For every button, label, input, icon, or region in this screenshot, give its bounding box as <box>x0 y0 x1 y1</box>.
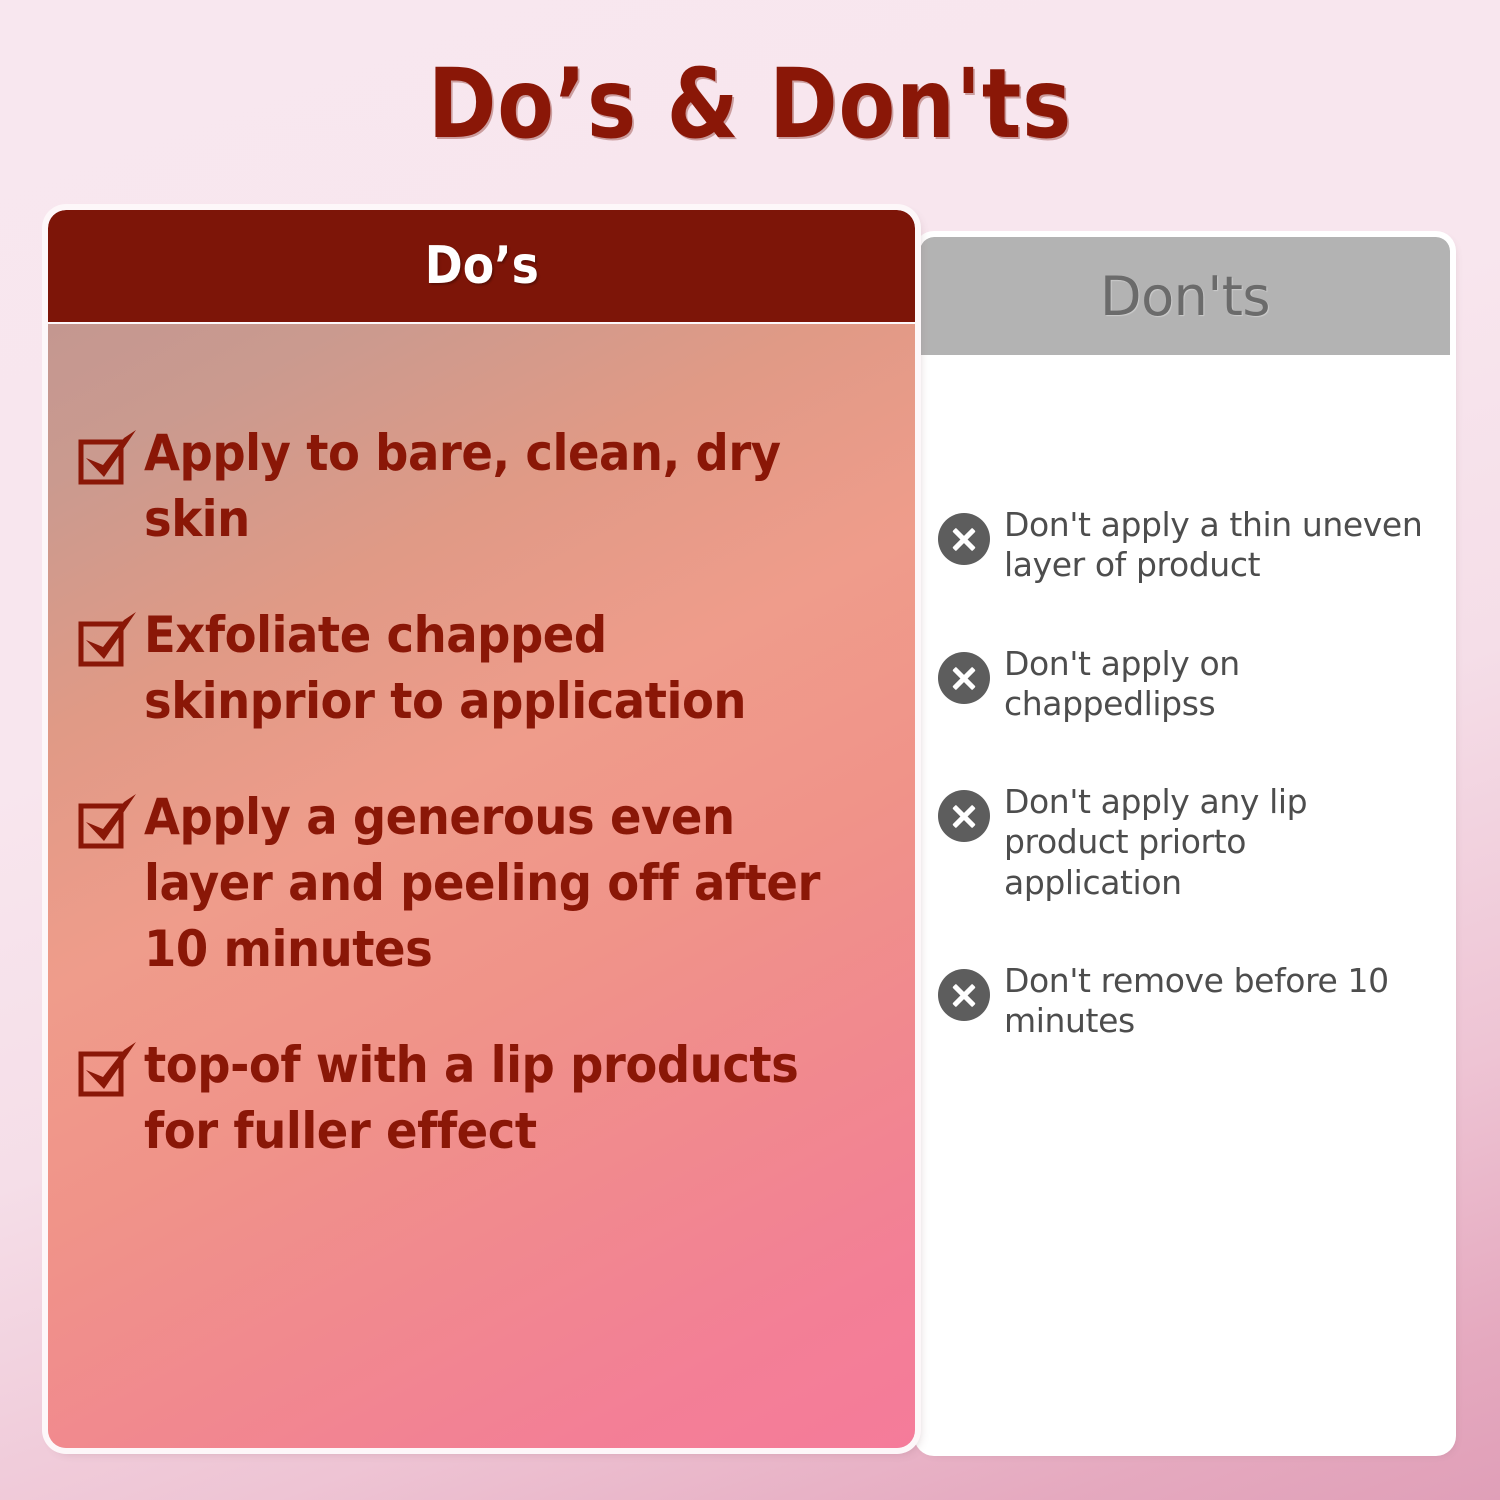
list-item: Don't apply a thin uneven layer of produ… <box>938 505 1424 586</box>
dos-list: Apply to bare, clean, dry skin Exfoliate… <box>48 322 915 1448</box>
list-item: Don't apply on chappedlipss <box>938 644 1424 725</box>
x-circle-icon <box>938 513 990 565</box>
checkbox-checked-icon <box>78 792 140 850</box>
donts-header: Don'ts <box>920 237 1450 355</box>
list-item: Don't apply any lip product priorto appl… <box>938 782 1424 903</box>
dos-header: Do’s <box>48 210 915 322</box>
do-item-label: Apply a generous even layer and peeling … <box>144 784 824 982</box>
dos-card: Do’s Apply to bare, clean, dry skin Exfo… <box>48 210 915 1448</box>
list-item: Exfoliate chapped skinprior to applicati… <box>78 602 875 734</box>
x-circle-icon <box>938 790 990 842</box>
list-item: top-of with a lip products for fuller ef… <box>78 1032 875 1164</box>
dont-item-label: Don't remove before 10 minutes <box>1004 961 1424 1042</box>
dont-item-label: Don't apply a thin uneven layer of produ… <box>1004 505 1424 586</box>
checkbox-checked-icon <box>78 1040 140 1098</box>
do-item-label: Apply to bare, clean, dry skin <box>144 420 824 552</box>
list-item: Apply to bare, clean, dry skin <box>78 420 875 552</box>
donts-header-label: Don'ts <box>1100 265 1270 328</box>
checkbox-checked-icon <box>78 610 140 668</box>
do-item-label: Exfoliate chapped skinprior to applicati… <box>144 602 824 734</box>
list-item: Don't remove before 10 minutes <box>938 961 1424 1042</box>
dos-header-label: Do’s <box>424 236 538 296</box>
do-item-label: top-of with a lip products for fuller ef… <box>144 1032 824 1164</box>
list-item: Apply a generous even layer and peeling … <box>78 784 875 982</box>
x-circle-icon <box>938 652 990 704</box>
dont-item-label: Don't apply on chappedlipss <box>1004 644 1424 725</box>
x-circle-icon <box>938 969 990 1021</box>
page-title: Do’s & Don'ts <box>105 48 1395 160</box>
checkbox-checked-icon <box>78 428 140 486</box>
donts-list: Don't apply a thin uneven layer of produ… <box>920 355 1450 1041</box>
dont-item-label: Don't apply any lip product priorto appl… <box>1004 782 1424 903</box>
donts-card: Don'ts Don't apply a thin uneven layer o… <box>920 237 1450 1450</box>
